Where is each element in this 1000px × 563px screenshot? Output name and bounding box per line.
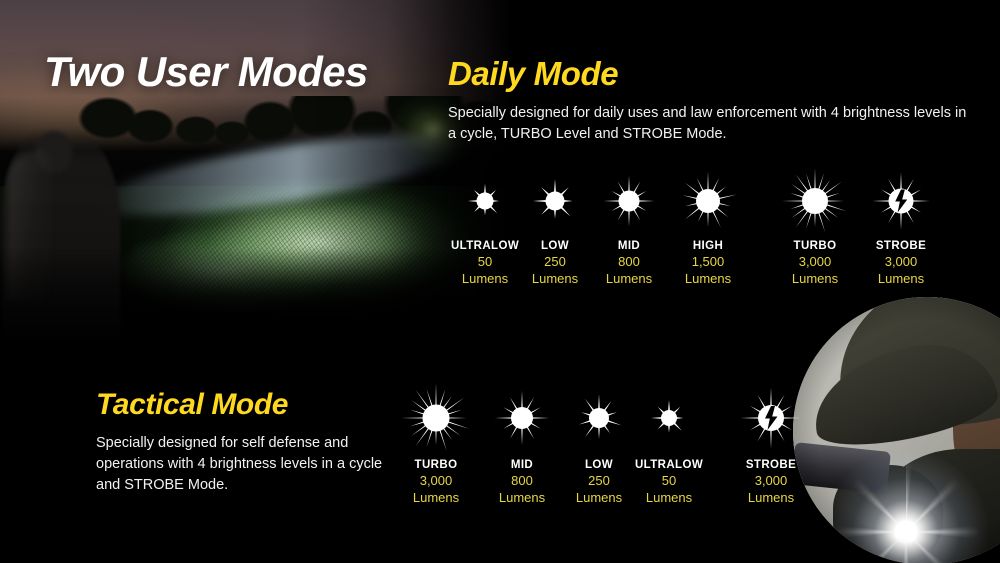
mode-lumens-unit: Lumens: [606, 270, 652, 287]
starburst-icon: [568, 378, 630, 458]
mode-level-high[interactable]: HIGH1,500Lumens: [667, 163, 749, 287]
strobe-bolt-icon: [865, 163, 937, 239]
starburst-icon: [777, 163, 853, 239]
mode-lumens-unit: Lumens: [576, 489, 622, 506]
mode-name-label: TURBO: [415, 458, 458, 472]
starburst-icon: [597, 163, 661, 239]
mode-name-label: LOW: [585, 458, 613, 472]
mode-level-low[interactable]: LOW250Lumens: [519, 163, 591, 287]
mode-lumens-value: 3,000: [799, 253, 832, 270]
starburst-icon: [673, 163, 743, 239]
starburst-icon: [525, 163, 585, 239]
daily-mode-level-row: ULTRALOW50LumensLOW250LumensMID800Lumens…: [451, 163, 943, 287]
mode-lumens-unit: Lumens: [685, 270, 731, 287]
mode-lumens-value: 3,000: [420, 472, 453, 489]
mode-level-mid[interactable]: MID800Lumens: [482, 378, 562, 506]
mode-lumens-value: 3,000: [885, 253, 918, 270]
tactical-mode-level-row: TURBO3,000LumensMID800LumensLOW250Lumens…: [390, 378, 814, 506]
starburst-icon: [457, 163, 513, 239]
mode-level-turbo[interactable]: TURBO3,000Lumens: [771, 163, 859, 287]
mode-lumens-value: 250: [588, 472, 610, 489]
mode-lumens-unit: Lumens: [792, 270, 838, 287]
page-title: Two User Modes: [44, 48, 368, 96]
mode-name-label: ULTRALOW: [451, 239, 519, 253]
mode-level-ultralow[interactable]: ULTRALOW50Lumens: [636, 378, 702, 506]
starburst-icon: [642, 378, 696, 458]
daily-mode-title: Daily Mode: [448, 55, 618, 93]
mode-lumens-value: 1,500: [692, 253, 725, 270]
photo-bottom-fade: [0, 246, 520, 340]
mode-name-label: LOW: [541, 239, 569, 253]
mode-level-strobe[interactable]: STROBE3,000Lumens: [728, 378, 814, 506]
mode-level-strobe[interactable]: STROBE3,000Lumens: [859, 163, 943, 287]
mode-lumens-value: 3,000: [755, 472, 788, 489]
mode-lumens-unit: Lumens: [499, 489, 545, 506]
mode-lumens-value: 250: [544, 253, 566, 270]
mode-name-label: MID: [511, 458, 533, 472]
mode-lumens-value: 50: [478, 253, 492, 270]
mode-level-mid[interactable]: MID800Lumens: [591, 163, 667, 287]
mode-lumens-value: 800: [618, 253, 640, 270]
mode-name-label: MID: [618, 239, 640, 253]
mode-lumens-value: 800: [511, 472, 533, 489]
mode-lumens-unit: Lumens: [532, 270, 578, 287]
mode-level-ultralow[interactable]: ULTRALOW50Lumens: [451, 163, 519, 287]
daily-mode-description: Specially designed for daily uses and la…: [448, 103, 968, 145]
mode-name-label: ULTRALOW: [635, 458, 703, 472]
mode-lumens-unit: Lumens: [413, 489, 459, 506]
mode-level-turbo[interactable]: TURBO3,000Lumens: [390, 378, 482, 506]
slide-canvas: Two User Modes Daily Mode Specially desi…: [0, 0, 1000, 563]
strobe-bolt-icon: [734, 378, 808, 458]
mode-level-low[interactable]: LOW250Lumens: [562, 378, 636, 506]
starburst-icon: [396, 378, 476, 458]
mode-lumens-unit: Lumens: [878, 270, 924, 287]
tactical-mode-title: Tactical Mode: [96, 388, 288, 422]
mode-name-label: HIGH: [693, 239, 723, 253]
tactical-mode-description: Specially designed for self defense and …: [96, 433, 386, 496]
mode-name-label: STROBE: [876, 239, 926, 253]
mode-lumens-unit: Lumens: [462, 270, 508, 287]
mode-lumens-unit: Lumens: [646, 489, 692, 506]
starburst-icon: [488, 378, 556, 458]
mode-name-label: STROBE: [746, 458, 796, 472]
mode-lumens-unit: Lumens: [748, 489, 794, 506]
mode-lumens-value: 50: [662, 472, 676, 489]
man-with-cap-holding-flashlight-photo: [793, 297, 1000, 563]
mode-name-label: TURBO: [794, 239, 837, 253]
